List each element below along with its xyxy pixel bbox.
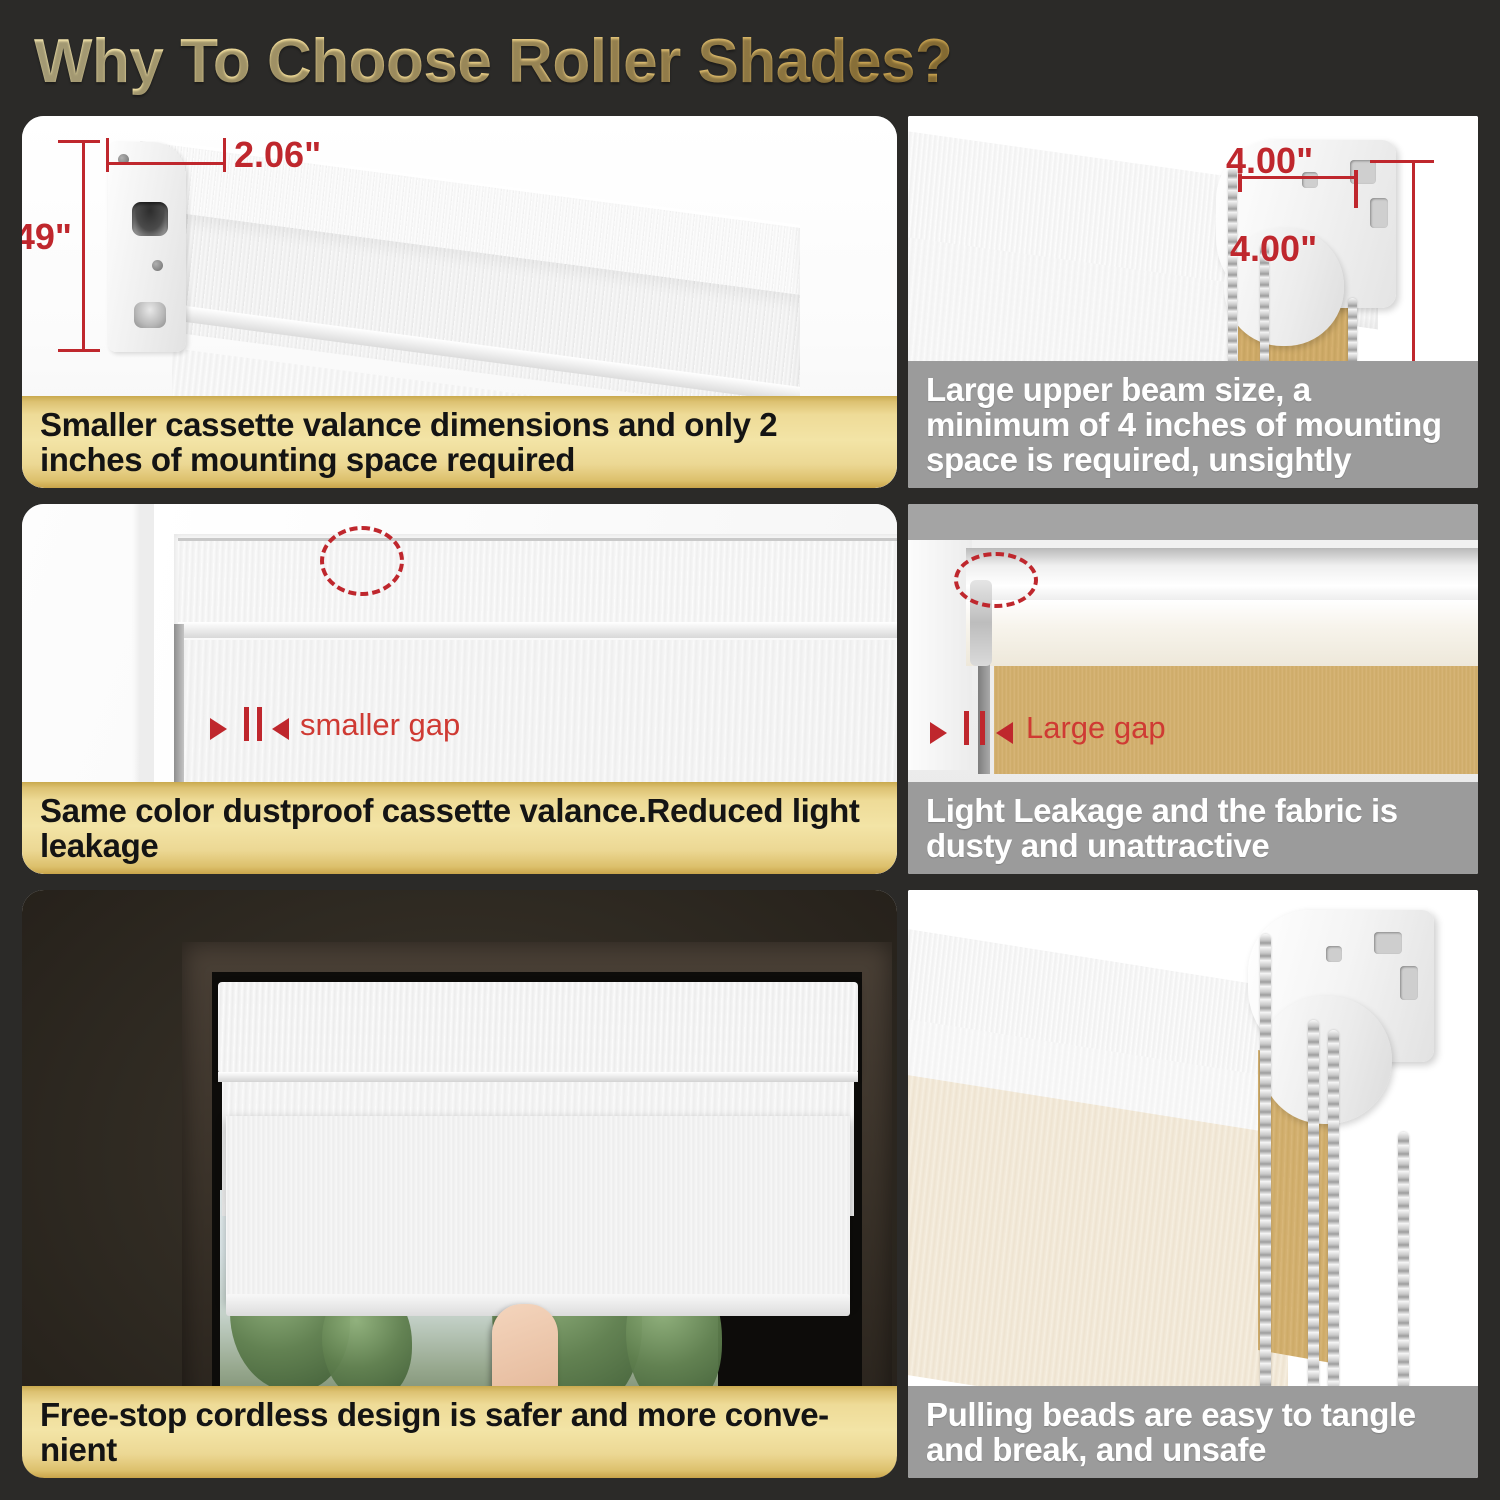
width-dimension-label: 2.06" bbox=[234, 134, 321, 176]
infographic-root: Why To Choose Roller Shades? 2.06" 5.49"… bbox=[0, 0, 1500, 1500]
width-dimension-line bbox=[106, 162, 226, 165]
caption-panel-2: Large upper beam size, a minimum of 4 in… bbox=[908, 361, 1478, 488]
panel-dustproof-valance: smaller gap Same color dustproof cassett… bbox=[22, 504, 897, 874]
gap-marker-a bbox=[964, 711, 969, 745]
beam-height-label: 4.00" bbox=[1230, 228, 1317, 270]
gap-marker-b bbox=[980, 711, 985, 745]
page-title: Why To Choose Roller Shades? bbox=[34, 26, 1134, 98]
panel-pulling-beads: Pulling beads are easy to tangle and bre… bbox=[908, 890, 1478, 1478]
beam-width-tick-right bbox=[1354, 170, 1358, 208]
gap-marker-a bbox=[244, 707, 249, 741]
width-dimension-tick-right bbox=[223, 138, 226, 172]
panel-smaller-cassette: 2.06" 5.49" Smaller cassette valance dim… bbox=[22, 116, 897, 488]
gap-callout-label: smaller gap bbox=[300, 707, 460, 743]
panel-cordless-design: Free-stop cordless design is safer and m… bbox=[22, 890, 897, 1478]
beam-width-label: 4.00" bbox=[1226, 140, 1313, 182]
height-dimension-tick-top bbox=[58, 140, 100, 143]
caption-panel-4: Light Leakage and the fabric is dusty an… bbox=[908, 782, 1478, 874]
caption-panel-5: Free-stop cordless design is safer and m… bbox=[22, 1386, 897, 1478]
height-dimension-line bbox=[82, 140, 85, 352]
width-dimension-tick-left bbox=[106, 138, 109, 172]
caption-panel-3: Same color dustproof cassette valance.Re… bbox=[22, 782, 897, 874]
highlight-circle-bracket bbox=[954, 552, 1038, 608]
caption-panel-1: Smaller cassette valance dimensions and … bbox=[22, 396, 897, 488]
gap-arrow-left bbox=[930, 722, 947, 744]
gap-arrow-right bbox=[272, 718, 289, 740]
height-dimension-label: 5.49" bbox=[22, 216, 72, 258]
gap-arrow-right bbox=[996, 722, 1013, 744]
caption-panel-6: Pulling beads are easy to tangle and bre… bbox=[908, 1386, 1478, 1478]
gap-marker-b bbox=[257, 707, 262, 741]
highlight-circle-seam bbox=[320, 526, 404, 596]
height-dimension-tick-bottom bbox=[58, 349, 100, 352]
panel-large-upper-beam: 4.00" 4.00" Large upper beam size, a min… bbox=[908, 116, 1478, 488]
beam-height-tick-top bbox=[1370, 160, 1434, 163]
panel-light-leakage: Large gap Light Leakage and the fabric i… bbox=[908, 504, 1478, 874]
gap-callout-label: Large gap bbox=[1026, 710, 1166, 746]
gap-arrow-left bbox=[210, 718, 227, 740]
